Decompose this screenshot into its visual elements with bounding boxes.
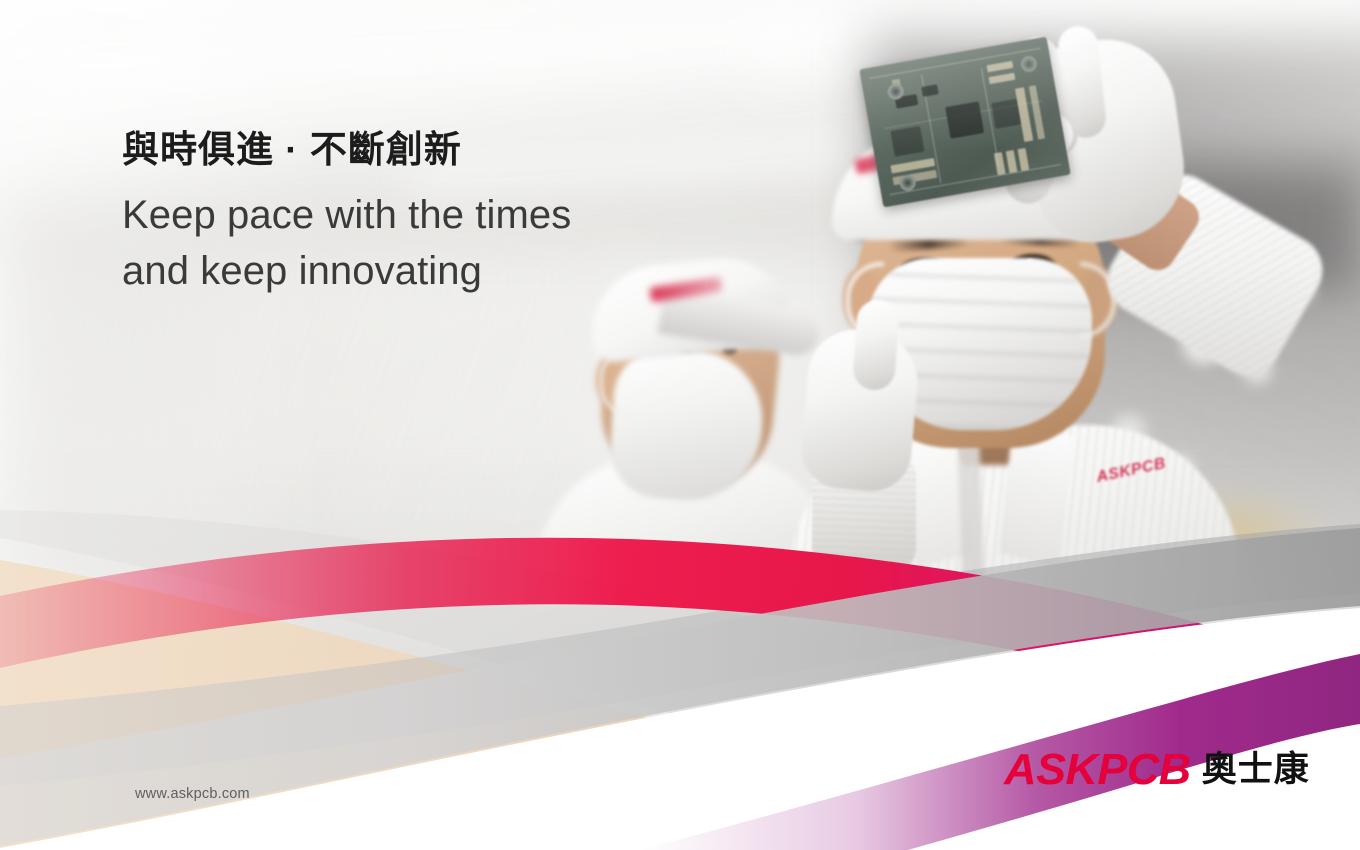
headline-english: Keep pace with the times and keep innova… bbox=[122, 188, 682, 298]
banner-canvas: ASKPCB bbox=[0, 0, 1360, 850]
headline-english-line-1: Keep pace with the times bbox=[122, 188, 682, 243]
glove-index-finger bbox=[852, 299, 900, 392]
brand-logo[interactable]: ASKPCB 奧士康 bbox=[1006, 748, 1310, 792]
headline-chinese: 與時俱進 · 不斷創新 bbox=[122, 128, 682, 172]
brand-logo-latin: ASKPCB bbox=[1004, 748, 1190, 792]
website-url[interactable]: www.askpcb.com bbox=[135, 786, 250, 802]
headline-english-line-2: and keep innovating bbox=[122, 244, 682, 299]
brand-logo-chinese: 奧士康 bbox=[1202, 753, 1310, 788]
headline: 與時俱進 · 不斷創新 Keep pace with the times and… bbox=[122, 128, 682, 299]
